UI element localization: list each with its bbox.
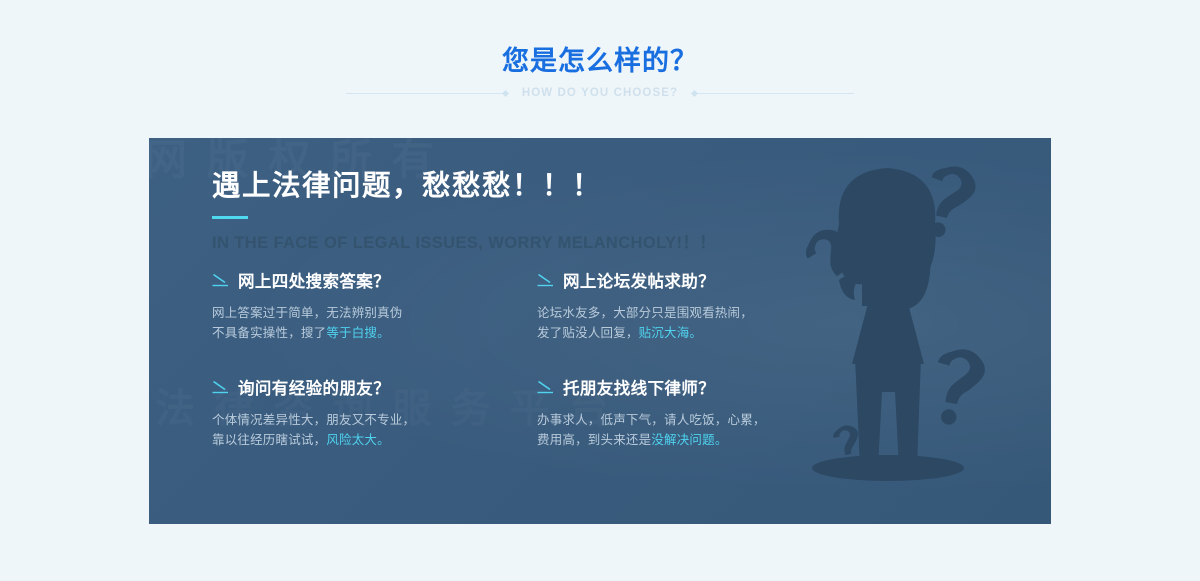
page-subtitle: HOW DO YOU CHOOSE? bbox=[522, 87, 678, 99]
item-title-text: 托朋友找线下律师？ bbox=[563, 375, 715, 399]
panel-subheading: IN THE FACE OF LEGAL ISSUES, WORRY MELAN… bbox=[212, 229, 716, 253]
item-desc-line-1: 个体情况差异性大，朋友又不专业， bbox=[212, 410, 537, 430]
divider-line-right bbox=[694, 93, 854, 94]
diagonal-arrow-icon bbox=[212, 273, 229, 287]
panel-heading: 遇上法律问题，愁愁愁！！！ bbox=[212, 167, 716, 205]
subtitle-row: HOW DO YOU CHOOSE? bbox=[0, 87, 1200, 99]
item-desc-tail: 。 bbox=[377, 326, 390, 340]
item-desc-line-2: 靠以往经历瞎试试，风险太大。 bbox=[212, 430, 537, 450]
panel-inner: 遇上法律问题，愁愁愁！！！ IN THE FACE OF LEGAL ISSUE… bbox=[149, 138, 1051, 524]
item-ask-friends: 询问有经验的朋友？ 个体情况差异性大，朋友又不专业， 靠以往经历瞎试试，风险太大… bbox=[212, 375, 537, 450]
item-desc-highlight: 风险太大 bbox=[326, 433, 377, 447]
item-desc-line-2: 不具备实操性，搜了等于白搜。 bbox=[212, 323, 537, 343]
item-desc-plain: 靠以往经历瞎试试， bbox=[212, 433, 326, 447]
item-desc-highlight: 等于白搜 bbox=[326, 326, 377, 340]
item-search-online: 网上四处搜索答案？ 网上答案过于简单，无法辨别真伪 不具备实操性，搜了等于白搜。 bbox=[212, 268, 537, 343]
item-desc-highlight: 没解决问题 bbox=[651, 433, 715, 447]
items-grid: 网上四处搜索答案？ 网上答案过于简单，无法辨别真伪 不具备实操性，搜了等于白搜。 bbox=[212, 268, 872, 450]
item-title-text: 网上四处搜索答案？ bbox=[238, 268, 390, 292]
item-desc-highlight: 贴沉大海 bbox=[639, 326, 690, 340]
item-desc-plain: 发了贴没人回复， bbox=[537, 326, 639, 340]
item-desc-line-1: 网上答案过于简单，无法辨别真伪 bbox=[212, 303, 537, 323]
item-title-text: 询问有经验的朋友？ bbox=[238, 375, 390, 399]
confused-woman-silhouette bbox=[783, 152, 1043, 524]
section-header: 您是怎么样的？ HOW DO YOU CHOOSE? bbox=[0, 44, 1200, 99]
page-title: 您是怎么样的？ bbox=[0, 44, 1200, 78]
items-row: 网上四处搜索答案？ 网上答案过于简单，无法辨别真伪 不具备实操性，搜了等于白搜。 bbox=[212, 268, 872, 343]
item-title-row: 网上四处搜索答案？ bbox=[212, 268, 537, 292]
divider-line-left bbox=[346, 93, 506, 94]
item-description: 个体情况差异性大，朋友又不专业， 靠以往经历瞎试试，风险太大。 bbox=[212, 410, 537, 450]
diagonal-arrow-icon bbox=[537, 380, 554, 394]
diagonal-arrow-icon bbox=[212, 380, 229, 394]
item-description: 网上答案过于简单，无法辨别真伪 不具备实操性，搜了等于白搜。 bbox=[212, 303, 537, 343]
item-desc-tail: 。 bbox=[715, 433, 728, 447]
item-desc-tail: 。 bbox=[689, 326, 702, 340]
item-desc-tail: 。 bbox=[377, 433, 390, 447]
item-desc-plain: 费用高，到头来还是 bbox=[537, 433, 651, 447]
panel-heading-block: 遇上法律问题，愁愁愁！！！ IN THE FACE OF LEGAL ISSUE… bbox=[212, 167, 716, 253]
accent-underline bbox=[212, 216, 248, 219]
item-title-row: 询问有经验的朋友？ bbox=[212, 375, 537, 399]
item-title-text: 网上论坛发帖求助？ bbox=[563, 268, 715, 292]
item-desc-plain: 不具备实操性，搜了 bbox=[212, 326, 326, 340]
content-panel: 网 版 权 所 有 法 律 咨 询 服 务 平 台 法 律 咨 询 网 遇上法律… bbox=[149, 138, 1051, 524]
diagonal-arrow-icon bbox=[537, 273, 554, 287]
items-row: 询问有经验的朋友？ 个体情况差异性大，朋友又不专业， 靠以往经历瞎试试，风险太大… bbox=[212, 375, 872, 450]
page-root: 您是怎么样的？ HOW DO YOU CHOOSE? 网 版 权 所 有 法 律… bbox=[0, 0, 1200, 581]
